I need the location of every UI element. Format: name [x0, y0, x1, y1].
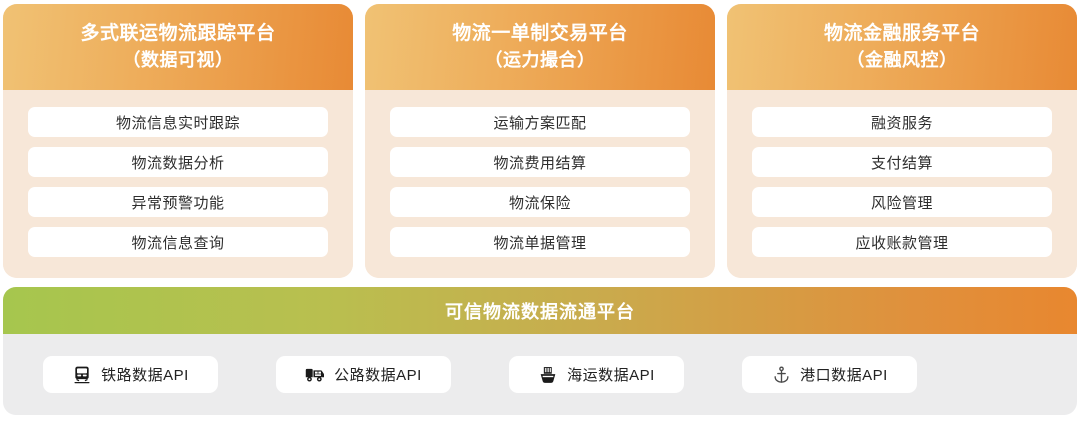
api-chip-label: 公路数据API	[334, 364, 422, 385]
card-title-line2: （金融风控）	[847, 47, 958, 74]
card-item[interactable]: 运输方案匹配	[390, 107, 690, 137]
card-item[interactable]: 融资服务	[752, 107, 1052, 137]
card-item[interactable]: 支付结算	[752, 147, 1052, 177]
banner-title-bar: 可信物流数据流通平台	[3, 287, 1077, 334]
api-chips-row: 铁路数据API 公路数据API	[3, 334, 1077, 415]
card-title-line2: （运力撮合）	[485, 47, 596, 74]
api-chip-road[interactable]: 公路数据API	[276, 356, 451, 393]
card-body-trading: 运输方案匹配 物流费用结算 物流保险 物流单据管理	[365, 90, 715, 278]
banner-title: 可信物流数据流通平台	[445, 298, 635, 324]
platform-cards-row: 多式联运物流跟踪平台 （数据可视） 物流信息实时跟踪 物流数据分析 异常预警功能…	[0, 4, 1080, 278]
platform-card-trading[interactable]: 物流一单制交易平台 （运力撮合） 运输方案匹配 物流费用结算 物流保险 物流单据…	[365, 4, 715, 278]
api-chip-rail[interactable]: 铁路数据API	[43, 356, 218, 393]
card-title-line2: （数据可视）	[123, 47, 234, 74]
card-title-line1: 多式联运物流跟踪平台	[80, 20, 275, 47]
anchor-icon	[771, 365, 791, 385]
api-chip-label: 铁路数据API	[101, 364, 189, 385]
card-item[interactable]: 异常预警功能	[28, 187, 328, 217]
train-icon	[72, 365, 92, 385]
card-title-line1: 物流金融服务平台	[824, 20, 980, 47]
platform-card-finance[interactable]: 物流金融服务平台 （金融风控） 融资服务 支付结算 风险管理 应收账款管理	[727, 4, 1077, 278]
diagram-root: 多式联运物流跟踪平台 （数据可视） 物流信息实时跟踪 物流数据分析 异常预警功能…	[0, 0, 1080, 431]
platform-card-tracking[interactable]: 多式联运物流跟踪平台 （数据可视） 物流信息实时跟踪 物流数据分析 异常预警功能…	[3, 4, 353, 278]
card-header-finance: 物流金融服务平台 （金融风控）	[727, 4, 1077, 90]
data-exchange-platform-block: 可信物流数据流通平台 铁路数据API	[3, 287, 1077, 415]
card-item[interactable]: 物流保险	[390, 187, 690, 217]
card-item[interactable]: 物流费用结算	[390, 147, 690, 177]
card-item[interactable]: 物流信息实时跟踪	[28, 107, 328, 137]
card-header-trading: 物流一单制交易平台 （运力撮合）	[365, 4, 715, 90]
api-chip-sea[interactable]: 海运数据API	[509, 356, 684, 393]
truck-icon	[305, 365, 325, 385]
card-item[interactable]: 物流单据管理	[390, 227, 690, 257]
card-item[interactable]: 物流信息查询	[28, 227, 328, 257]
api-chip-label: 海运数据API	[567, 364, 655, 385]
card-header-tracking: 多式联运物流跟踪平台 （数据可视）	[3, 4, 353, 90]
card-item[interactable]: 风险管理	[752, 187, 1052, 217]
ship-icon	[538, 365, 558, 385]
card-body-finance: 融资服务 支付结算 风险管理 应收账款管理	[727, 90, 1077, 278]
card-title-line1: 物流一单制交易平台	[452, 20, 628, 47]
card-item[interactable]: 物流数据分析	[28, 147, 328, 177]
api-chip-label: 港口数据API	[800, 364, 888, 385]
api-chip-port[interactable]: 港口数据API	[742, 356, 917, 393]
card-item[interactable]: 应收账款管理	[752, 227, 1052, 257]
card-body-tracking: 物流信息实时跟踪 物流数据分析 异常预警功能 物流信息查询	[3, 90, 353, 278]
